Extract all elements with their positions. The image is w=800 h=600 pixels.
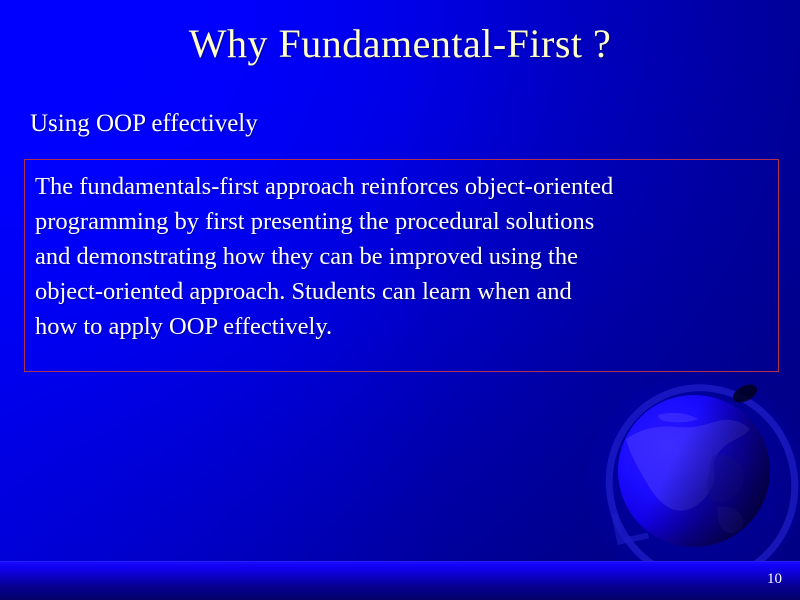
body-text-box: The fundamentals-first approach reinforc… (24, 159, 779, 372)
body-line: object-oriented approach. Students can l… (35, 274, 768, 309)
page-title: Why Fundamental-First ? (0, 20, 800, 68)
body-line: The fundamentals-first approach reinforc… (35, 169, 768, 204)
body-line: programming by first presenting the proc… (35, 204, 768, 239)
body-line: how to apply OOP effectively. (35, 309, 768, 344)
page-number: 10 (767, 570, 782, 588)
slide-subtitle: Using OOP effectively (30, 109, 258, 139)
presentation-slide: Why Fundamental-First ? Using OOP effect… (0, 0, 800, 600)
bottom-accent-band (0, 562, 800, 600)
body-line: and demonstrating how they can be improv… (35, 239, 768, 274)
